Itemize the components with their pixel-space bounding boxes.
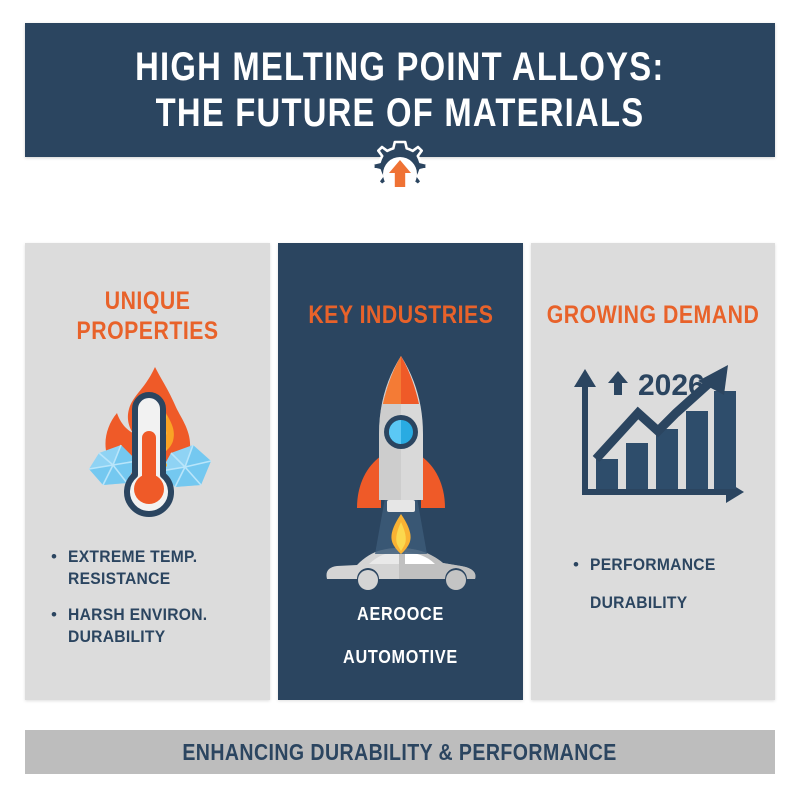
gear-up-arrow-icon bbox=[366, 140, 434, 208]
bullet-text-line-2: RESISTANCE bbox=[68, 568, 197, 590]
list-item: • HARSH ENVIRON. DURABILITY bbox=[51, 604, 258, 648]
bullet-text-line-2: DURABILITY bbox=[68, 626, 207, 648]
chart-bar-2 bbox=[626, 443, 648, 489]
panel-growing-demand: GROWING DEMAND bbox=[531, 243, 775, 700]
bullet-dot-icon: • bbox=[573, 554, 590, 575]
footer-tagline: ENHANCING DURABILITY & PERFORMANCE bbox=[183, 739, 617, 766]
list-item: • EXTREME TEMP. RESISTANCE bbox=[51, 546, 258, 590]
infographic-canvas: HIGH MELTING POINT ALLOYS: THE FUTURE OF… bbox=[0, 0, 800, 800]
up-arrow-icon bbox=[608, 371, 628, 395]
bullet-text-line-1: EXTREME TEMP. bbox=[68, 546, 197, 568]
chart-bar-4 bbox=[686, 411, 708, 489]
bullet-dot-icon: • bbox=[51, 604, 68, 625]
header-banner: HIGH MELTING POINT ALLOYS: THE FUTURE OF… bbox=[25, 23, 775, 157]
panel-key-industries: KEY INDUSTRIES bbox=[278, 243, 523, 700]
bullet-text-line-1: PERFORMANCE bbox=[590, 554, 716, 576]
rocket-icon bbox=[341, 348, 461, 563]
chart-year-label: 2026 bbox=[638, 369, 705, 402]
bullet-text-line-1: DURABILITY bbox=[590, 592, 687, 614]
bullet-text-line-1: HARSH ENVIRON. bbox=[68, 604, 207, 626]
column-heading-unique-properties-line-1: UNIQUE bbox=[76, 286, 218, 316]
column-heading-key-industries: KEY INDUSTRIES bbox=[308, 300, 493, 330]
panel-unique-properties: UNIQUE PROPERTIES bbox=[25, 243, 270, 700]
bullet-list-unique-properties: • EXTREME TEMP. RESISTANCE • HARSH ENVIR… bbox=[25, 546, 270, 662]
list-item: • PERFORMANCE bbox=[573, 554, 775, 576]
list-item: • DURABILITY bbox=[573, 592, 775, 614]
footer-banner: ENHANCING DURABILITY & PERFORMANCE bbox=[25, 730, 775, 774]
chart-bar-1 bbox=[596, 459, 618, 489]
column-heading-growing-demand: GROWING DEMAND bbox=[547, 300, 760, 330]
industry-label-automotive: AUTOMOTIVE bbox=[290, 647, 511, 668]
growth-bar-chart-icon: 2026 bbox=[558, 355, 748, 525]
chart-bar-5 bbox=[714, 391, 736, 489]
industry-label-aerospace: AEROOCE bbox=[290, 604, 511, 625]
thermometer-flame-ice-icon bbox=[63, 361, 233, 526]
page-title-line-1: HIGH MELTING POINT ALLOYS: bbox=[135, 44, 664, 90]
bullet-list-growing-demand: • PERFORMANCE • DURABILITY bbox=[531, 554, 775, 628]
column-heading-unique-properties-line-2: PROPERTIES bbox=[76, 316, 218, 346]
bullet-dot-icon: • bbox=[51, 546, 68, 567]
page-title-line-2: THE FUTURE OF MATERIALS bbox=[156, 90, 645, 136]
chart-bar-3 bbox=[656, 429, 678, 489]
